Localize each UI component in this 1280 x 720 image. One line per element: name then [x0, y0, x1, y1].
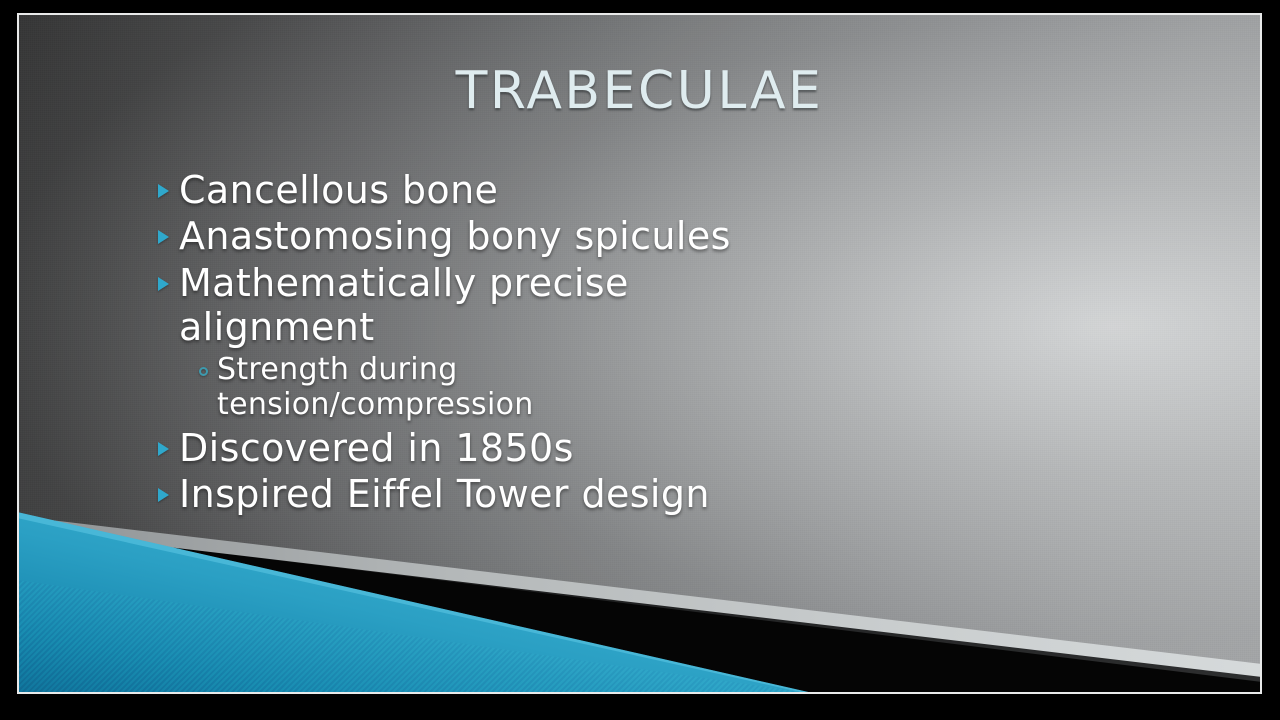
bullet-item-2[interactable]: Anastomosing bony spicules [147, 214, 987, 258]
bullet-item-3[interactable]: Mathematically precise alignment [147, 261, 987, 350]
bullet-item-5[interactable]: Discovered in 1850s [147, 426, 987, 470]
slide-title: TRABECULAE [456, 61, 824, 121]
bullet-text: Strength during tension/compression [217, 352, 657, 422]
bullet-item-4[interactable]: Strength during tension/compression [147, 352, 987, 422]
bullet-text: Discovered in 1850s [179, 426, 574, 470]
bullet-item-6[interactable]: Inspired Eiffel Tower design [147, 472, 987, 516]
bullet-text: Inspired Eiffel Tower design [179, 472, 710, 516]
ring-bullet-icon [189, 352, 217, 376]
triangle-bullet-icon [147, 426, 179, 456]
slide-canvas[interactable]: TRABECULAE Cancellous bone Anastomosing … [17, 13, 1262, 694]
presentation-screen: TRABECULAE Cancellous bone Anastomosing … [0, 0, 1280, 720]
bullet-text: Mathematically precise alignment [179, 261, 819, 350]
bullet-text: Cancellous bone [179, 168, 498, 212]
triangle-bullet-icon [147, 168, 179, 198]
triangle-bullet-icon [147, 472, 179, 502]
title-container: TRABECULAE [17, 61, 1262, 121]
bullet-list[interactable]: Cancellous bone Anastomosing bony spicul… [147, 168, 987, 519]
bullet-item-1[interactable]: Cancellous bone [147, 168, 987, 212]
triangle-bullet-icon [147, 214, 179, 244]
bullet-text: Anastomosing bony spicules [179, 214, 731, 258]
triangle-bullet-icon [147, 261, 179, 291]
